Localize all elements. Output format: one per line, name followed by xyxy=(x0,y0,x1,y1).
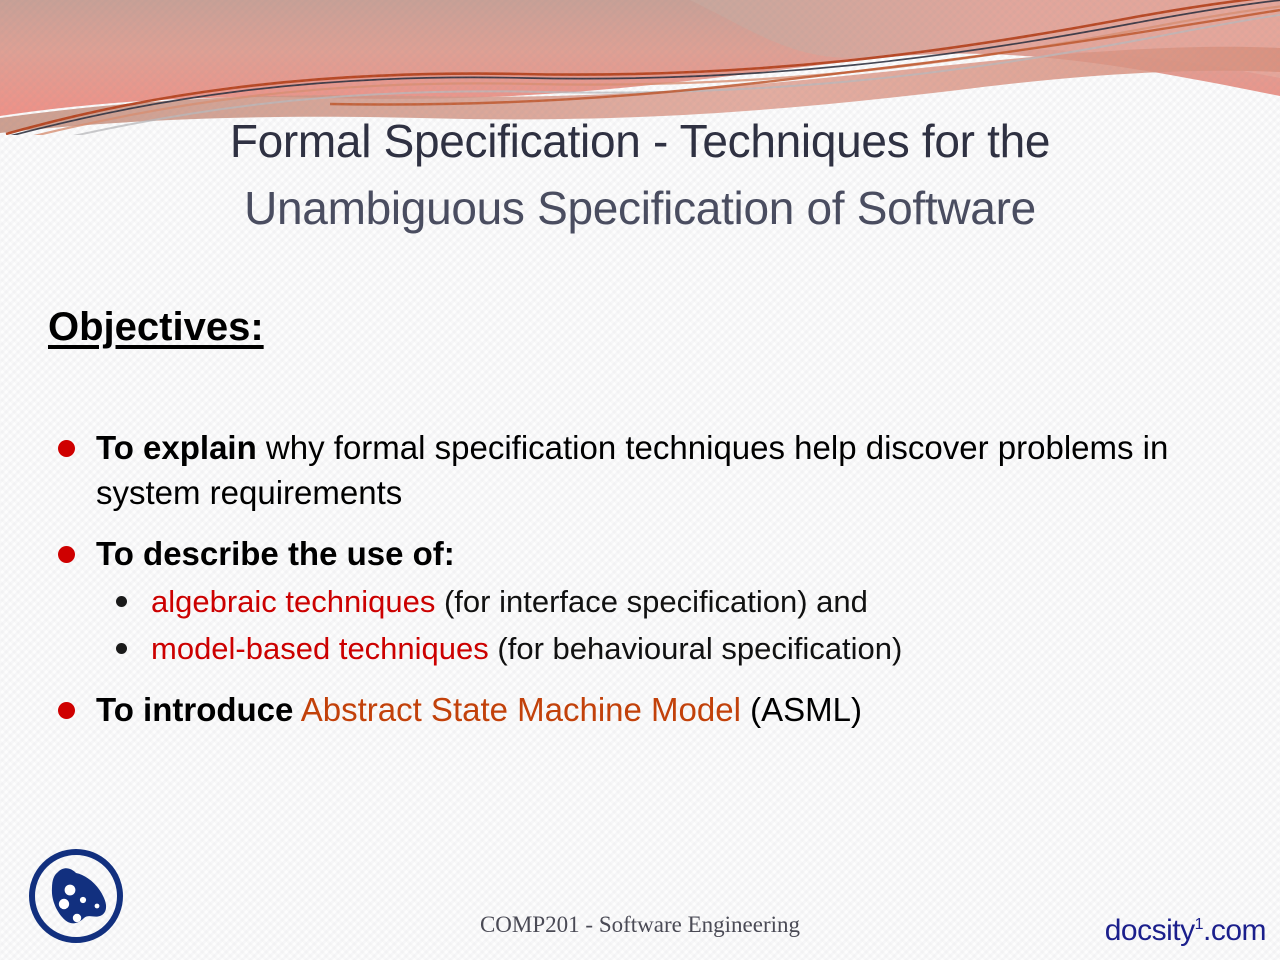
bullet-body-text: (ASML) xyxy=(741,691,862,728)
slide-title: Formal Specification - Techniques for th… xyxy=(90,108,1190,241)
bullet-spacer xyxy=(48,519,1238,531)
bullet-item-to-explain: To explain why formal specification tech… xyxy=(48,425,1238,515)
title-line-2: Unambiguous Specification of Software xyxy=(90,175,1190,242)
bullet-bold-lead: To explain xyxy=(96,429,257,466)
sub-bullet-algebraic-techniques: algebraic techniques (for interface spec… xyxy=(48,581,1238,622)
bullet-bold-lead: To describe the use of: xyxy=(96,535,455,572)
watermark-name: docsity xyxy=(1105,914,1195,947)
bullet-body-text: why formal specification techniques help… xyxy=(96,429,1168,511)
objectives-heading: Objectives: xyxy=(48,305,264,350)
bullet-spacer xyxy=(48,675,1238,687)
watermark-superscript: 1 xyxy=(1195,916,1203,933)
sub-bullet-body-text: (for interface specification) and xyxy=(435,584,868,619)
sub-bullet-dot-icon xyxy=(116,643,127,654)
watermark-tld: .com xyxy=(1203,914,1266,947)
sub-bullet-model-based-techniques: model-based techniques (for behavioural … xyxy=(48,628,1238,669)
bullet-item-to-introduce: To introduce Abstract State Machine Mode… xyxy=(48,687,1238,732)
bullet-bold-lead: To introduce xyxy=(96,691,293,728)
bullet-dot-icon xyxy=(58,702,75,719)
sub-bullet-highlight-text: algebraic techniques xyxy=(151,584,435,619)
sub-bullet-dot-icon xyxy=(116,596,127,607)
bullet-dot-icon xyxy=(58,546,75,563)
presentation-slide: Formal Specification - Techniques for th… xyxy=(0,0,1280,960)
bullet-item-to-describe: To describe the use of: xyxy=(48,531,1238,576)
sub-bullet-highlight-text: model-based techniques xyxy=(151,631,489,666)
docsity-watermark: docsity1.com xyxy=(1105,914,1266,948)
sub-bullet-body-text: (for behavioural specification) xyxy=(489,631,903,666)
bullet-dot-icon xyxy=(58,440,75,457)
objectives-bullet-list: To explain why formal specification tech… xyxy=(48,425,1238,736)
bullet-highlight-text: Abstract State Machine Model xyxy=(293,691,741,728)
title-line-1: Formal Specification - Techniques for th… xyxy=(90,108,1190,175)
footer-course-label: COMP201 - Software Engineering xyxy=(0,912,1280,938)
